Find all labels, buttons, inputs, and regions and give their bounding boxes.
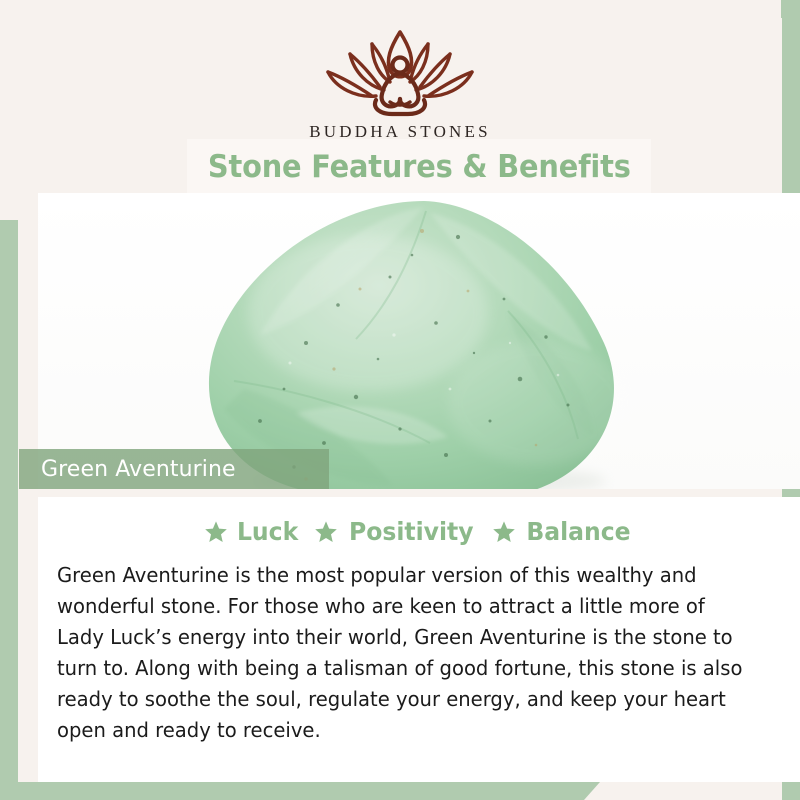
benefit-item-balance: Balance — [492, 517, 634, 546]
star-icon — [204, 520, 228, 544]
card-inner: BUDDHA STONES Stone Features & Benefits — [19, 0, 781, 782]
star-icon — [314, 520, 338, 544]
brand-logo: BUDDHA STONES — [19, 22, 781, 142]
hero-image — [38, 193, 800, 489]
stone-description: Green Aventurine is the most popular ver… — [57, 560, 748, 746]
benefits-list: Luck Positivity Balance — [54, 517, 784, 546]
stone-name-caption: Green Aventurine — [19, 449, 329, 489]
lotus-meditation-icon — [310, 22, 490, 120]
decorative-band-left-mask — [0, 0, 18, 220]
benefit-label: Luck — [237, 517, 298, 546]
content-panel: Luck Positivity Balance Green Aventurine… — [38, 497, 800, 782]
benefit-item-luck: Luck — [204, 517, 300, 546]
decorative-band-bottom — [0, 782, 600, 800]
stone-info-card: BUDDHA STONES Stone Features & Benefits — [0, 0, 800, 800]
green-aventurine-stone-illustration — [38, 193, 800, 489]
benefit-item-positivity: Positivity — [314, 517, 478, 546]
benefit-label: Balance — [526, 517, 630, 546]
section-title-panel: Stone Features & Benefits — [187, 139, 651, 194]
page-title: Stone Features & Benefits — [208, 149, 631, 185]
stone-name-label: Green Aventurine — [41, 457, 236, 482]
star-icon — [492, 520, 516, 544]
benefit-label: Positivity — [349, 517, 474, 546]
